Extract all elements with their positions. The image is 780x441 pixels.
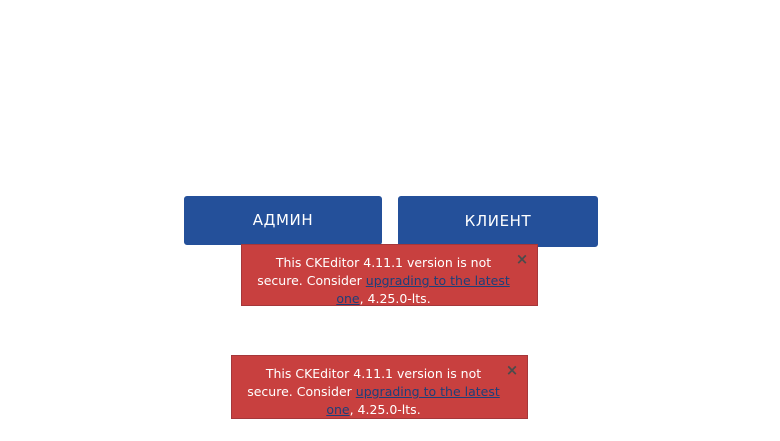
close-icon[interactable]: × bbox=[504, 362, 520, 378]
notification-text-after-link: , 4.25.0-lts. bbox=[360, 291, 431, 306]
client-button-label: КЛИЕНТ bbox=[465, 214, 532, 229]
close-icon[interactable]: × bbox=[514, 251, 530, 267]
page-root: АДМИН КЛИЕНТ This CKEditor 4.11.1 versio… bbox=[0, 0, 780, 441]
ckeditor-version-notification: This CKEditor 4.11.1 version is not secu… bbox=[231, 355, 528, 419]
client-button[interactable]: КЛИЕНТ bbox=[398, 196, 598, 247]
admin-button[interactable]: АДМИН bbox=[184, 196, 382, 245]
notification-message: This CKEditor 4.11.1 version is not secu… bbox=[246, 365, 501, 419]
role-selection-group: АДМИН КЛИЕНТ bbox=[184, 196, 598, 248]
admin-button-label: АДМИН bbox=[253, 213, 313, 228]
ckeditor-version-notification: This CKEditor 4.11.1 version is not secu… bbox=[241, 244, 538, 306]
notification-text-after-link: , 4.25.0-lts. bbox=[350, 402, 421, 417]
notification-message: This CKEditor 4.11.1 version is not secu… bbox=[256, 254, 511, 308]
